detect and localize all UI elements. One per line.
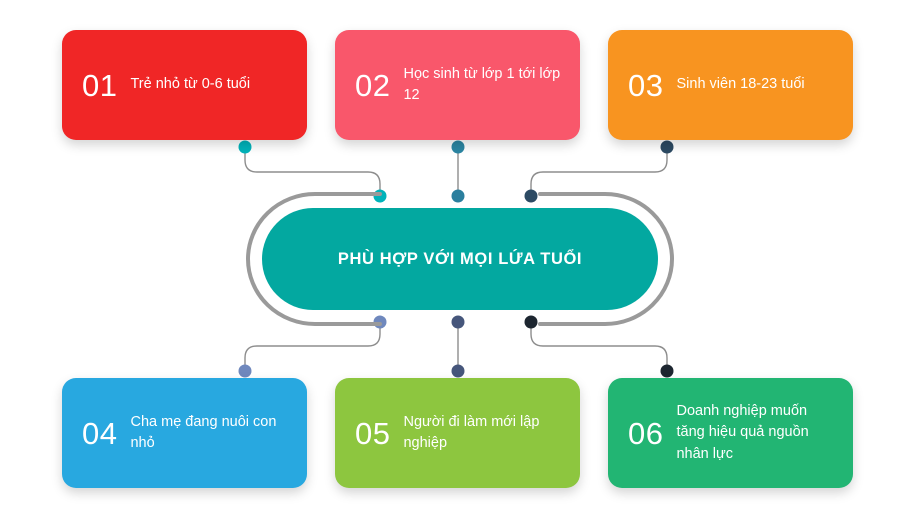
item-label-04: Cha mẹ đang nuôi con nhỏ xyxy=(130,412,291,454)
infographic-canvas: PHÙ HỢP VỚI MỌI LỨA TUỔI 01 Trẻ nhỏ từ 0… xyxy=(0,0,921,506)
item-card-04[interactable]: 04 Cha mẹ đang nuôi con nhỏ xyxy=(62,378,307,488)
item-card-05[interactable]: 05 Người đi làm mới lập nghiệp xyxy=(335,378,580,488)
center-node[interactable]: PHÙ HỢP VỚI MỌI LỨA TUỔI xyxy=(246,192,674,326)
item-card-01[interactable]: 01 Trẻ nhỏ từ 0-6 tuổi xyxy=(62,30,307,140)
item-number-02: 02 xyxy=(355,70,390,101)
item-card-02[interactable]: 02 Học sinh từ lớp 1 tới lớp 12 xyxy=(335,30,580,140)
connector-path-06 xyxy=(531,322,667,370)
center-pill[interactable]: PHÙ HỢP VỚI MỌI LỨA TUỔI xyxy=(262,208,658,310)
card-dot-01 xyxy=(239,141,252,154)
item-card-06[interactable]: 06 Doanh nghiệp muốn tăng hiệu quả nguồn… xyxy=(608,378,853,488)
card-dot-03 xyxy=(661,141,674,154)
connector-path-03 xyxy=(531,148,667,196)
item-label-02: Học sinh từ lớp 1 tới lớp 12 xyxy=(403,64,564,106)
center-label: PHÙ HỢP VỚI MỌI LỨA TUỔI xyxy=(338,250,582,269)
item-label-03: Sinh viên 18-23 tuổi xyxy=(676,74,837,95)
item-number-03: 03 xyxy=(628,70,663,101)
item-number-04: 04 xyxy=(82,418,117,449)
item-number-05: 05 xyxy=(355,418,390,449)
item-label-06: Doanh nghiệp muốn tăng hiệu quả nguồn nh… xyxy=(676,401,837,464)
connector-path-04 xyxy=(245,322,380,370)
connector-path-01 xyxy=(245,148,380,196)
item-label-01: Trẻ nhỏ từ 0-6 tuổi xyxy=(130,74,291,95)
item-number-01: 01 xyxy=(82,70,117,101)
card-dot-02 xyxy=(452,141,465,154)
card-dot-04 xyxy=(239,365,252,378)
item-card-03[interactable]: 03 Sinh viên 18-23 tuổi xyxy=(608,30,853,140)
item-number-06: 06 xyxy=(628,418,663,449)
card-dot-05 xyxy=(452,365,465,378)
item-label-05: Người đi làm mới lập nghiệp xyxy=(403,412,564,454)
card-dot-06 xyxy=(661,365,674,378)
